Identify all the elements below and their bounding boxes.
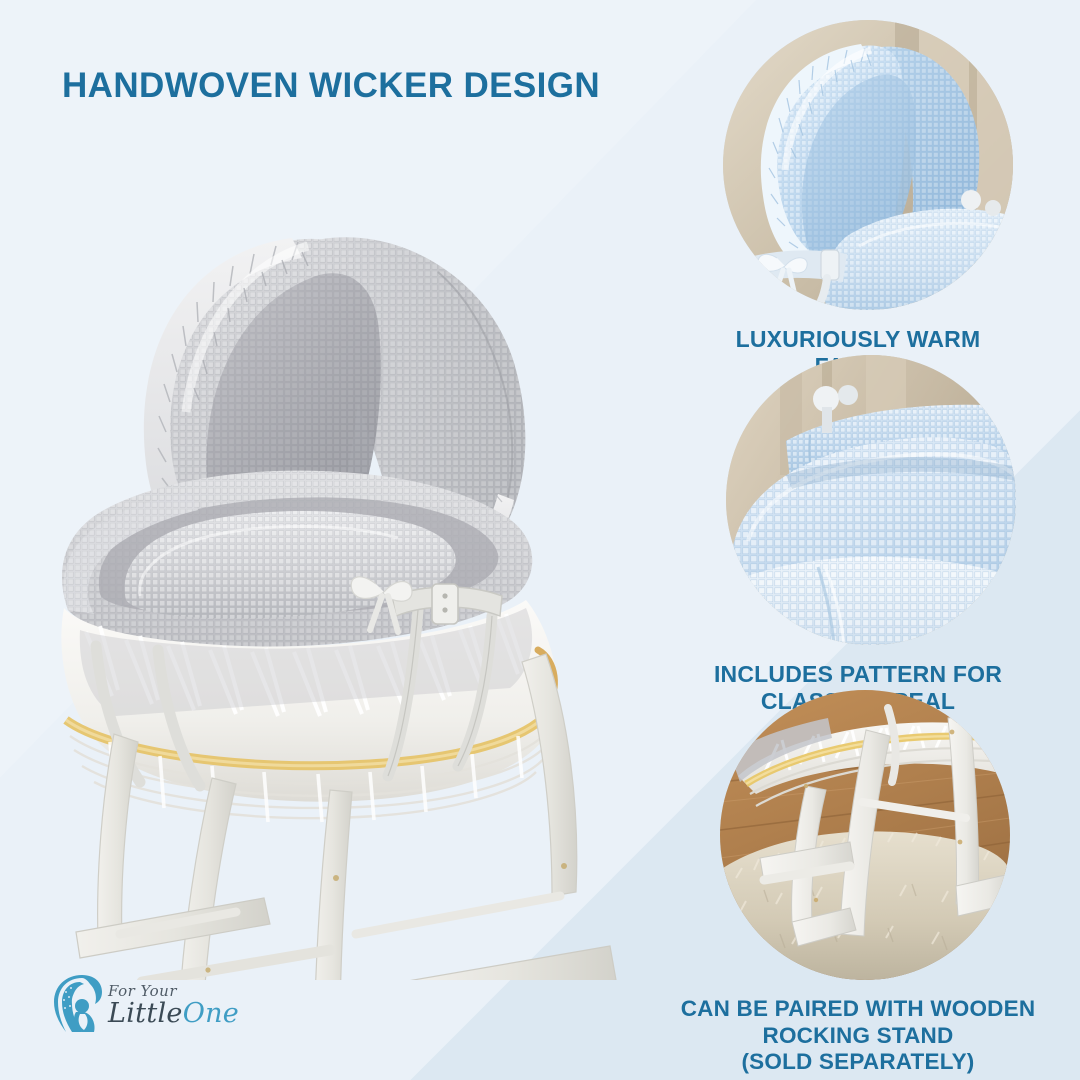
brand-wordmark: For Your LittleOne (108, 984, 239, 1027)
feature-luxuriously-warm-fabric: LUXURIOUSLY WARM FABRIC (648, 20, 1068, 380)
logo-line-1: For Your (108, 984, 239, 999)
feature-3-caption: CAN BE PAIRED WITH WOODEN ROCKING STAND … (648, 996, 1068, 1076)
logo-line-2: LittleOne (108, 1000, 239, 1027)
mother-and-baby-icon (52, 974, 104, 1036)
infographic-canvas: HANDWOVEN WICKER DESIGN (0, 0, 1080, 1080)
logo-little: Little (108, 998, 183, 1029)
feature-includes-pattern: INCLUDES PATTERN FOR CLASSY APPEAL (648, 355, 1068, 715)
feature-2-image (726, 355, 1016, 645)
feature-rocking-stand: CAN BE PAIRED WITH WOODEN ROCKING STAND … (648, 690, 1068, 1076)
hero-product-image (40, 180, 640, 980)
feature-1-image (723, 20, 1013, 310)
page-title: HANDWOVEN WICKER DESIGN (62, 66, 600, 106)
feature-3-image (720, 690, 1010, 980)
brand-logo: For Your LittleOne (52, 965, 262, 1045)
logo-one: One (183, 998, 239, 1029)
